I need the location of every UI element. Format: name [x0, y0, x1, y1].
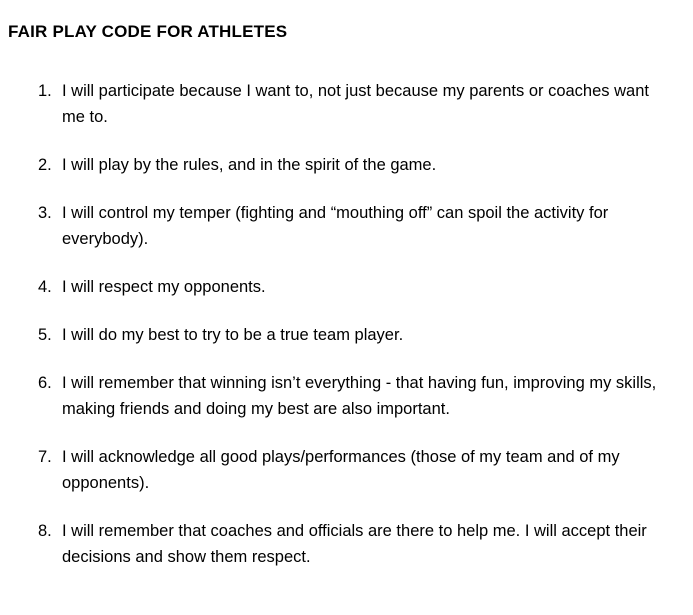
list-item-text: I will acknowledge all good plays/perfor…: [62, 444, 675, 496]
list-item-number: 5.: [38, 322, 58, 348]
fair-play-code-list: 1. I will participate because I want to,…: [0, 78, 693, 592]
list-item: 2. I will play by the rules, and in the …: [0, 152, 693, 178]
list-item-text: I will do my best to try to be a true te…: [62, 322, 675, 348]
list-item: 5. I will do my best to try to be a true…: [0, 322, 693, 348]
list-item-text: I will participate because I want to, no…: [62, 78, 675, 130]
list-item-number: 7.: [38, 444, 58, 470]
list-item: 4. I will respect my opponents.: [0, 274, 693, 300]
list-item: 8. I will remember that coaches and offi…: [0, 518, 693, 570]
list-item-text: I will remember that winning isn’t every…: [62, 370, 675, 422]
list-item: 3. I will control my temper (fighting an…: [0, 200, 693, 252]
list-item-number: 3.: [38, 200, 58, 226]
list-item-number: 8.: [38, 518, 58, 544]
list-item-text: I will remember that coaches and officia…: [62, 518, 675, 570]
list-item-text: I will control my temper (fighting and “…: [62, 200, 675, 252]
list-item: 1. I will participate because I want to,…: [0, 78, 693, 130]
list-item-text: I will play by the rules, and in the spi…: [62, 152, 675, 178]
list-item: 7. I will acknowledge all good plays/per…: [0, 444, 693, 496]
list-item: 6. I will remember that winning isn’t ev…: [0, 370, 693, 422]
list-item-number: 2.: [38, 152, 58, 178]
list-item-text: I will respect my opponents.: [62, 274, 675, 300]
page-title: FAIR PLAY CODE FOR ATHLETES: [8, 22, 287, 42]
list-item-number: 6.: [38, 370, 58, 396]
list-item-number: 4.: [38, 274, 58, 300]
list-item-number: 1.: [38, 78, 58, 104]
document-page: FAIR PLAY CODE FOR ATHLETES 1. I will pa…: [0, 0, 693, 615]
